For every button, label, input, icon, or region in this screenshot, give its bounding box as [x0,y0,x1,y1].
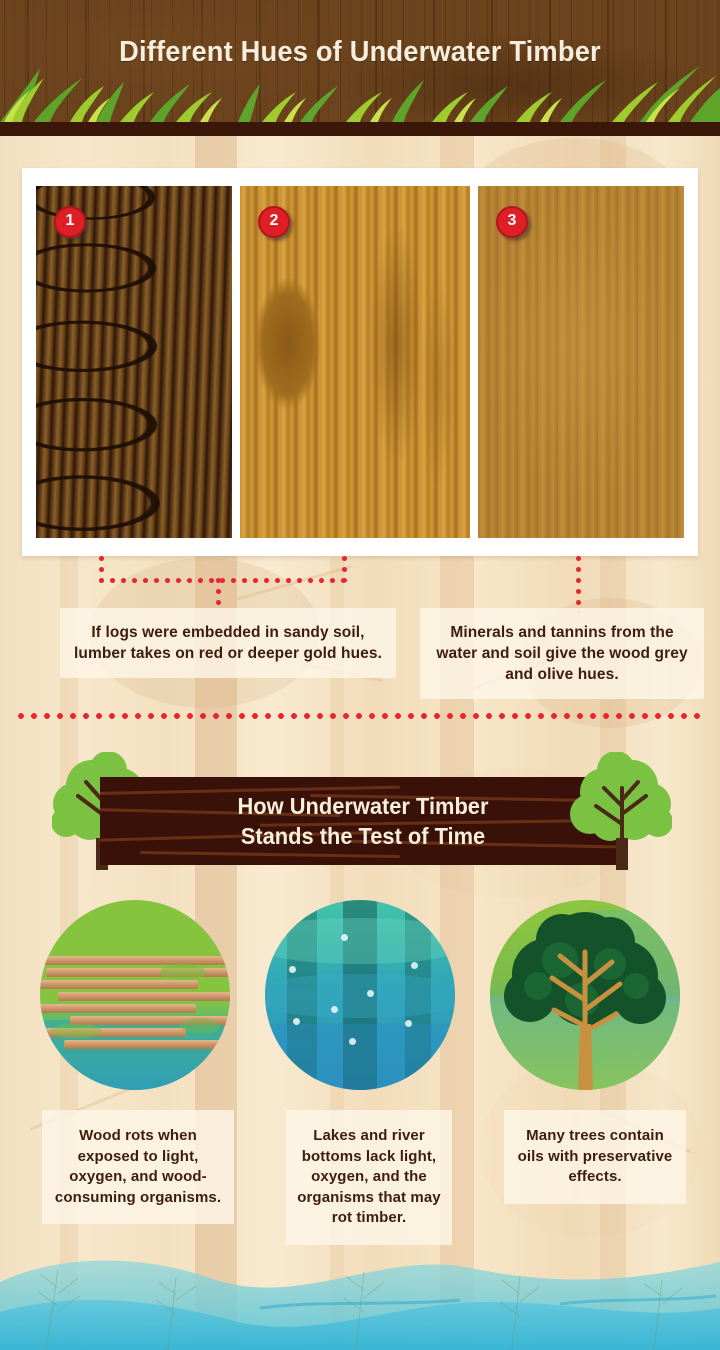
caption-left: If logs were embedded in sandy soil, lum… [60,608,396,678]
header-underline [0,122,720,136]
connector-line-sample3 [576,556,581,612]
section-divider [18,713,704,719]
circle-rotting-wood [40,900,230,1090]
wood-knot [248,276,320,426]
banner-title-line1: How Underwater Timber [238,791,489,821]
page-title: Different Hues of Underwater Timber [22,36,699,69]
circle-living-tree [490,900,680,1090]
caption-bottom-1: Wood rots when exposed to light, oxygen,… [42,1110,234,1224]
wood-soft-texture [478,186,684,538]
header-banner: Different Hues of Underwater Timber [0,0,720,122]
caption-bottom-2: Lakes and river bottoms lack light, oxyg… [286,1110,452,1245]
sample-badge-2: 2 [258,206,290,238]
section-banner: How Underwater Timber Stands the Test of… [100,777,626,865]
circle-underwater-trunks [265,900,455,1090]
connector-drop-left [216,578,221,610]
timber-sample-1[interactable]: 1 [36,186,232,538]
caption-bottom-3: Many trees contain oils with preservativ… [504,1110,686,1204]
timber-sample-3[interactable]: 3 [478,186,684,538]
banner-title-line2: Stands the Test of Time [241,821,485,851]
wood-ring-texture [36,186,232,538]
banner-title: How Underwater Timber Stands the Test of… [113,777,613,865]
grass-icon [0,62,720,122]
water-waves-illustration [0,1248,720,1350]
sample-badge-3: 3 [496,206,528,238]
caption-right: Minerals and tannins from the water and … [420,608,704,699]
connector-bracket-left [99,578,347,583]
timber-sample-2[interactable]: 2 [240,186,470,538]
infographic-page: Different Hues of Underwater Timber 1 2 … [0,0,720,1350]
timber-sample-gallery: 1 2 3 [22,168,698,556]
sample-badge-1: 1 [54,206,86,238]
